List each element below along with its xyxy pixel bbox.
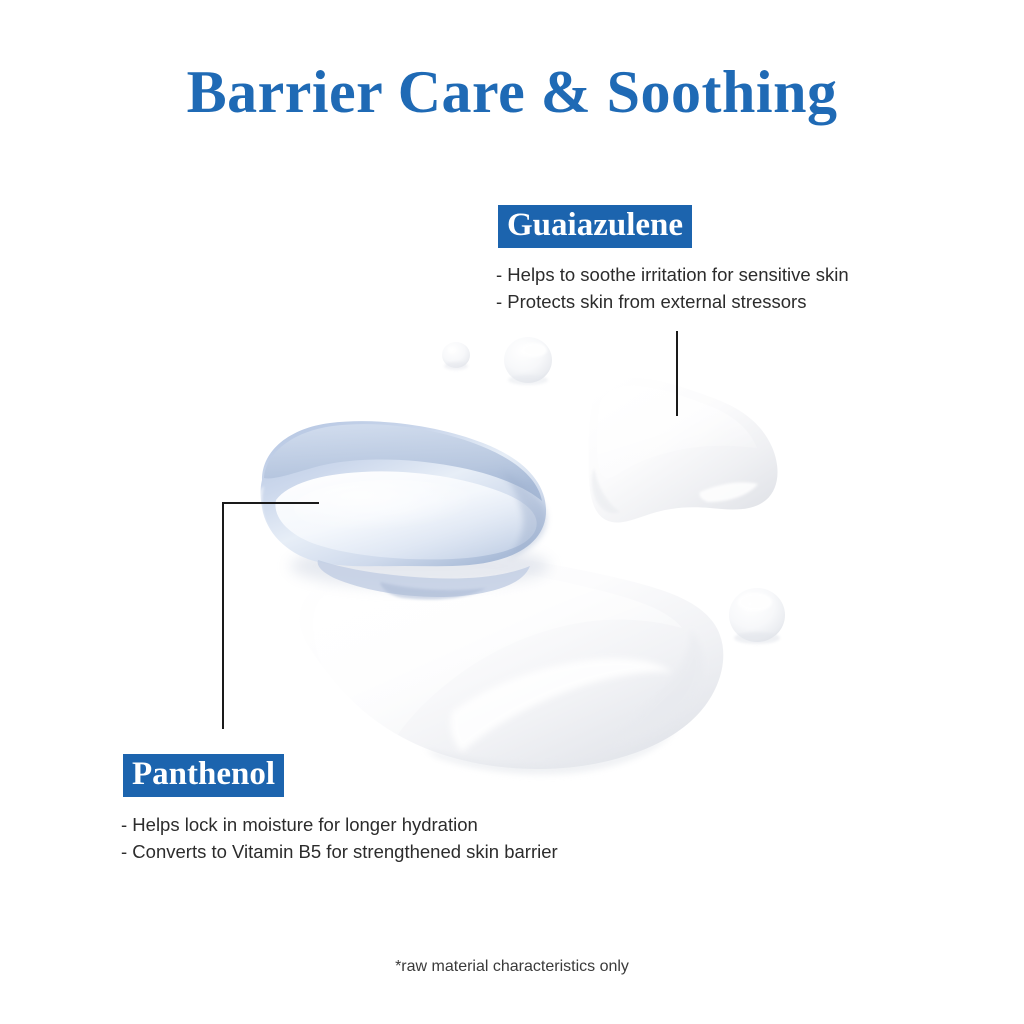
leader-line-guaiazulene: [676, 331, 678, 416]
footnote-disclaimer: *raw material characteristics only: [0, 958, 1024, 976]
product-texture-illustration: [0, 0, 1024, 1024]
ingredient-bullets-panthenol: - Helps lock in moisture for longer hydr…: [121, 811, 558, 865]
bullet-item: - Helps lock in moisture for longer hydr…: [121, 811, 558, 838]
leader-line-panthenol-vertical: [222, 502, 224, 729]
infographic-canvas: Barrier Care & Soothing Guaiazulene - He…: [0, 0, 1024, 1024]
page-title: Barrier Care & Soothing: [0, 58, 1024, 127]
blue-cream-swatch-shape: [258, 421, 550, 599]
bullet-item: - Converts to Vitamin B5 for strengthene…: [121, 838, 558, 865]
ingredient-bullets-guaiazulene: - Helps to soothe irritation for sensiti…: [496, 261, 849, 315]
ingredient-badge-panthenol: Panthenol: [123, 754, 284, 797]
droplet-medium-upper-shape: [504, 337, 552, 385]
white-gel-blob-shape: [588, 378, 777, 523]
droplet-right-shape: [729, 588, 785, 644]
white-cream-pool-shape: [299, 552, 723, 774]
bullet-item: - Helps to soothe irritation for sensiti…: [496, 261, 849, 288]
ingredient-badge-guaiazulene: Guaiazulene: [498, 205, 692, 248]
bullet-item: - Protects skin from external stressors: [496, 288, 849, 315]
leader-line-panthenol-horizontal: [222, 502, 319, 504]
droplet-small-upper-shape: [442, 342, 470, 370]
